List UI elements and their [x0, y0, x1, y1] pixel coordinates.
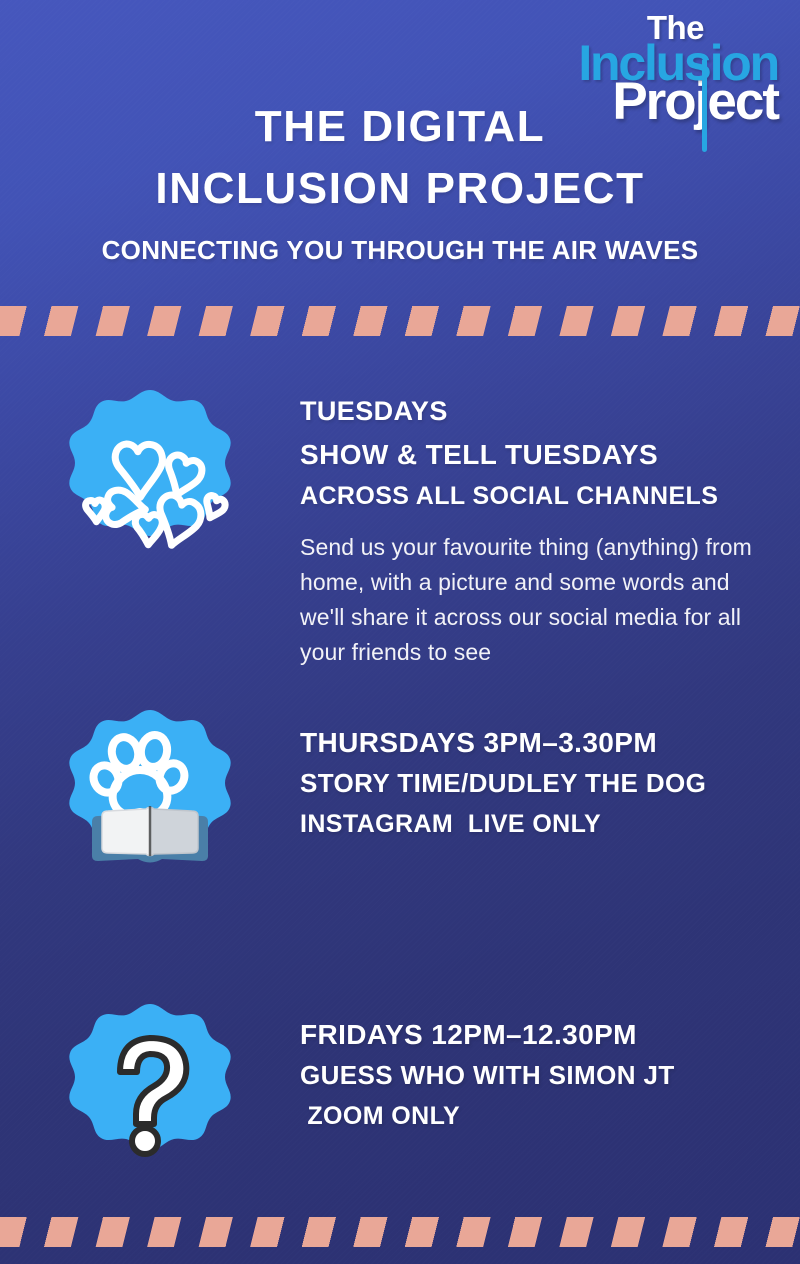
schedule-kicker: THURSDAYS 3PM–3.30PM — [300, 722, 778, 763]
schedule-channel: ZOOM ONLY — [300, 1096, 778, 1136]
headline-subhead: CONNECTING YOU THROUGH THE AIR WAVES — [0, 235, 800, 266]
schedule-title: SHOW & TELL TUESDAYS — [300, 434, 778, 477]
hearts-badge — [50, 386, 250, 586]
question-mark-badge — [50, 1000, 250, 1200]
schedule-title: GUESS WHO WITH SIMON JT — [300, 1055, 778, 1095]
badge-container-fridays — [0, 990, 300, 1200]
schedule-item-tuesdays: TUESDAYS SHOW & TELL TUESDAYS ACROSS ALL… — [0, 386, 800, 670]
text-column-thursdays: THURSDAYS 3PM–3.30PM STORY TIME/DUDLEY T… — [300, 700, 800, 844]
headline-line-2: INCLUSION PROJECT — [0, 158, 800, 220]
paw-book-badge — [50, 706, 250, 906]
hearts-icon — [50, 386, 250, 586]
inclusion-project-logo: The Inclusion Project — [563, 14, 778, 124]
stripe-divider-bottom — [0, 1217, 800, 1247]
schedule-title: STORY TIME/DUDLEY THE DOG — [300, 763, 778, 803]
logo-j-stroke-accent — [702, 60, 707, 152]
schedule-item-thursdays: THURSDAYS 3PM–3.30PM STORY TIME/DUDLEY T… — [0, 700, 800, 906]
text-column-tuesdays: TUESDAYS SHOW & TELL TUESDAYS ACROSS ALL… — [300, 386, 800, 670]
badge-container-tuesdays — [0, 386, 300, 586]
schedule-channel: INSTAGRAM LIVE ONLY — [300, 804, 778, 844]
stripe-divider-top — [0, 306, 800, 336]
schedule-channel: ACROSS ALL SOCIAL CHANNELS — [300, 476, 778, 516]
open-book-icon — [50, 706, 250, 906]
logo-word-inclusion: Inclusion — [563, 42, 778, 84]
schedule-kicker: FRIDAYS 12PM–12.30PM — [300, 1014, 778, 1055]
poster-canvas: The Inclusion Project THE DIGITAL INCLUS… — [0, 0, 800, 1264]
badge-container-thursdays — [0, 700, 300, 906]
schedule-description: Send us your favourite thing (anything) … — [300, 530, 760, 670]
schedule-kicker: TUESDAYS — [300, 390, 778, 434]
question-mark-icon — [50, 1000, 250, 1200]
schedule-item-fridays: FRIDAYS 12PM–12.30PM GUESS WHO WITH SIMO… — [0, 990, 800, 1200]
text-column-fridays: FRIDAYS 12PM–12.30PM GUESS WHO WITH SIMO… — [300, 990, 800, 1136]
